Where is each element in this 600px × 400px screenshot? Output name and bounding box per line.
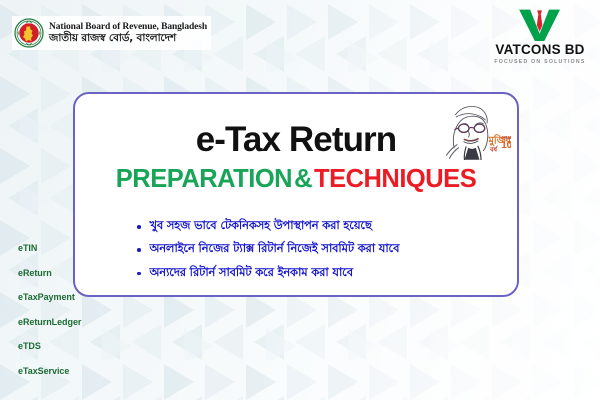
slide-canvas: National Board of Revenue, Bangladesh জা… (0, 0, 600, 400)
list-item: অন্যদের রিটার্ন সাবমিট করে ইনকাম করা যাব… (137, 265, 501, 279)
nbr-title-english: National Board of Revenue, Bangladesh (49, 22, 207, 32)
bullet-dot-icon (137, 225, 141, 229)
nbr-logo-text: National Board of Revenue, Bangladesh জা… (49, 22, 207, 45)
main-content-card: মুজিব বর্ষ MUJIB 100 e-Tax Return PREPAR… (73, 92, 519, 297)
page-subtitle: PREPARATION&TECHNIQUES (75, 167, 517, 193)
sidebar-item-etds[interactable]: eTDS (18, 341, 113, 351)
sidebar-item-etin[interactable]: eTIN (18, 243, 113, 253)
subtitle-preparation: PREPARATION (116, 165, 292, 193)
feature-bullet-list: খুব সহজ ভাবে টেকনিকসহ উপাস্থাপন করা হয়ে… (137, 218, 501, 288)
bullet-dot-icon (137, 248, 141, 252)
vatcons-v-tie-icon (516, 8, 563, 41)
sidebar-item-ereturnledger[interactable]: eReturnLedger (18, 317, 113, 327)
nbr-title-bengali: জাতীয় রাজস্ব বোর্ড, বাংলাদেশ (49, 33, 207, 44)
nbr-logo: National Board of Revenue, Bangladesh জা… (12, 16, 211, 50)
sidebar-item-ereturn[interactable]: eReturn (18, 268, 113, 278)
list-item: অনলাইনে নিজের ট্যাক্স রিটার্ন নিজেই সাবম… (137, 241, 501, 255)
sidebar-item-etaxpayment[interactable]: eTaxPayment (18, 292, 113, 302)
bullet-text: অনলাইনে নিজের ট্যাক্স রিটার্ন নিজেই সাবম… (150, 241, 400, 255)
page-title: e-Tax Return (75, 122, 517, 157)
vatcons-tagline: FOCUSED ON SOLUTIONS (492, 59, 588, 65)
bullet-text: খুব সহজ ভাবে টেকনিকসহ উপাস্থাপন করা হয়ে… (150, 218, 372, 232)
vatcons-name: VATCONS BD (492, 42, 588, 57)
sidebar-item-etaxservice[interactable]: eTaxService (18, 366, 113, 376)
subtitle-techniques: TECHNIQUES (314, 165, 476, 193)
nbr-seal-icon (14, 18, 44, 48)
bullet-text: অন্যদের রিটার্ন সাবমিট করে ইনকাম করা যাব… (150, 265, 353, 279)
vatcons-logo: VATCONS BD FOCUSED ON SOLUTIONS (492, 8, 588, 65)
service-sidebar: eTIN eReturn eTaxPayment eReturnLedger e… (18, 243, 113, 390)
bullet-dot-icon (137, 272, 141, 276)
subtitle-ampersand: & (292, 165, 314, 193)
list-item: খুব সহজ ভাবে টেকনিকসহ উপাস্থাপন করা হয়ে… (137, 218, 501, 232)
